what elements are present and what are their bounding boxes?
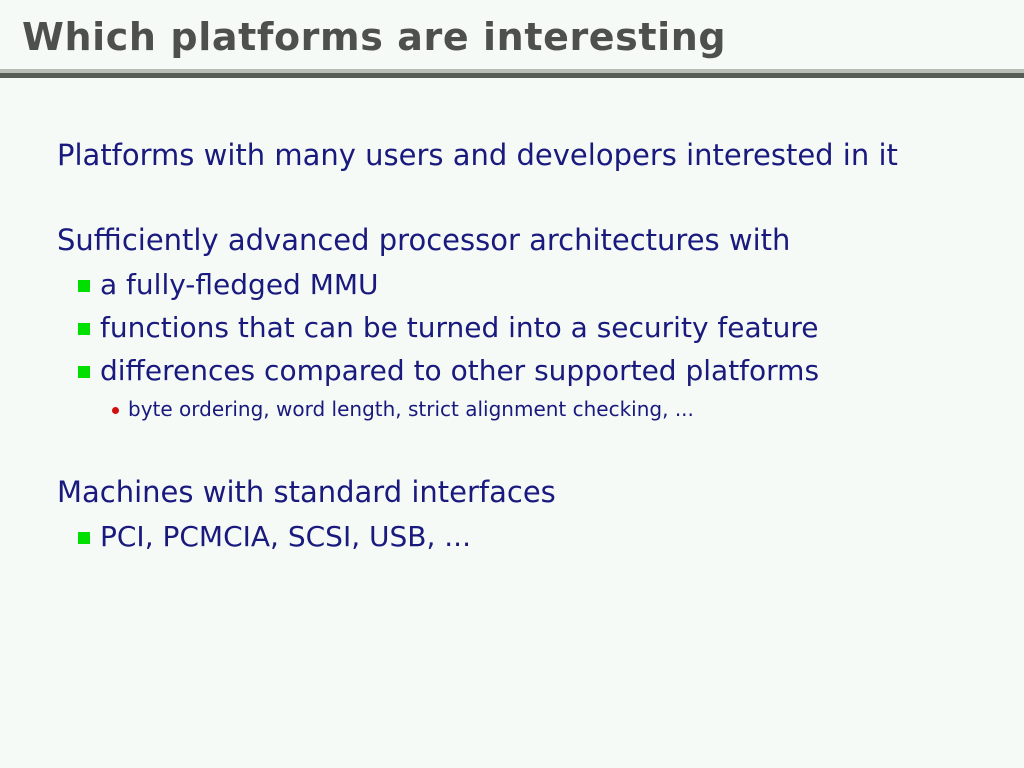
body-line-intro: Platforms with many users and developers… xyxy=(57,138,898,172)
square-bullet-icon xyxy=(78,532,90,544)
sub-list-item: byte ordering, word length, strict align… xyxy=(112,397,694,421)
page-title: Which platforms are interesting xyxy=(22,13,726,61)
slide-title-block: Which platforms are interesting xyxy=(0,0,1024,71)
list-item-label: differences compared to other supported … xyxy=(100,354,819,387)
square-bullet-icon xyxy=(78,366,90,378)
square-bullet-icon xyxy=(78,323,90,335)
slide-body: Platforms with many users and developers… xyxy=(0,78,1024,768)
list-item: differences compared to other supported … xyxy=(78,354,819,387)
list-item: a fully-fledged MMU xyxy=(78,268,379,301)
dot-bullet-icon xyxy=(112,407,119,414)
list-item-label: functions that can be turned into a secu… xyxy=(100,311,819,344)
section-heading-processor: Sufficiently advanced processor architec… xyxy=(57,223,790,257)
square-bullet-icon xyxy=(78,280,90,292)
list-item-label: a fully-fledged MMU xyxy=(100,268,379,301)
list-item: PCI, PCMCIA, SCSI, USB, ... xyxy=(78,520,471,553)
sub-list-item-label: byte ordering, word length, strict align… xyxy=(128,397,694,421)
presentation-slide: Which platforms are interesting Platform… xyxy=(0,0,1024,768)
section-heading-machines: Machines with standard interfaces xyxy=(57,475,556,509)
list-item: functions that can be turned into a secu… xyxy=(78,311,819,344)
list-item-label: PCI, PCMCIA, SCSI, USB, ... xyxy=(100,520,471,553)
